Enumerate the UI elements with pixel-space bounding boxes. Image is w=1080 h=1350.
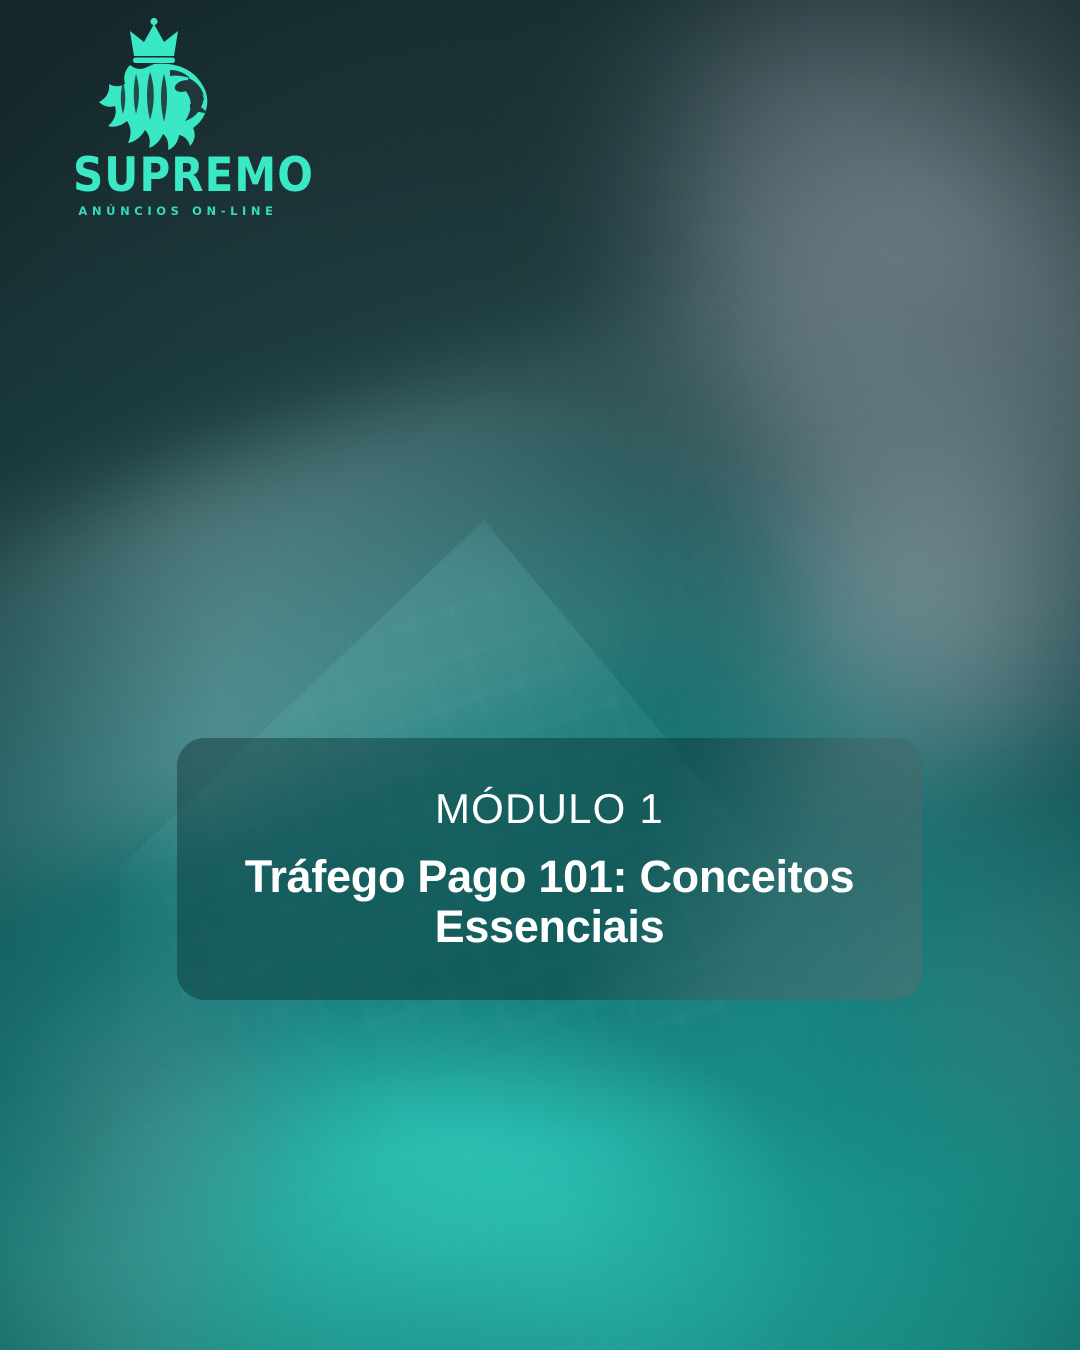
brand-logo: SUPREMO ANÚNCIOS ON-LINE — [78, 18, 278, 218]
brand-wordmark: SUPREMO — [73, 152, 283, 200]
poster-canvas: SUPREMO ANÚNCIOS ON-LINE MÓDULO 1 Tráfeg… — [0, 0, 1080, 1350]
module-title: Tráfego Pago 101: Conceitos Essenciais — [220, 852, 880, 953]
module-title-card: MÓDULO 1 Tráfego Pago 101: Conceitos Ess… — [177, 738, 922, 1000]
crowned-lion-head-icon — [78, 18, 278, 150]
module-label: MÓDULO 1 — [435, 788, 664, 830]
brand-tagline: ANÚNCIOS ON-LINE — [78, 204, 278, 218]
